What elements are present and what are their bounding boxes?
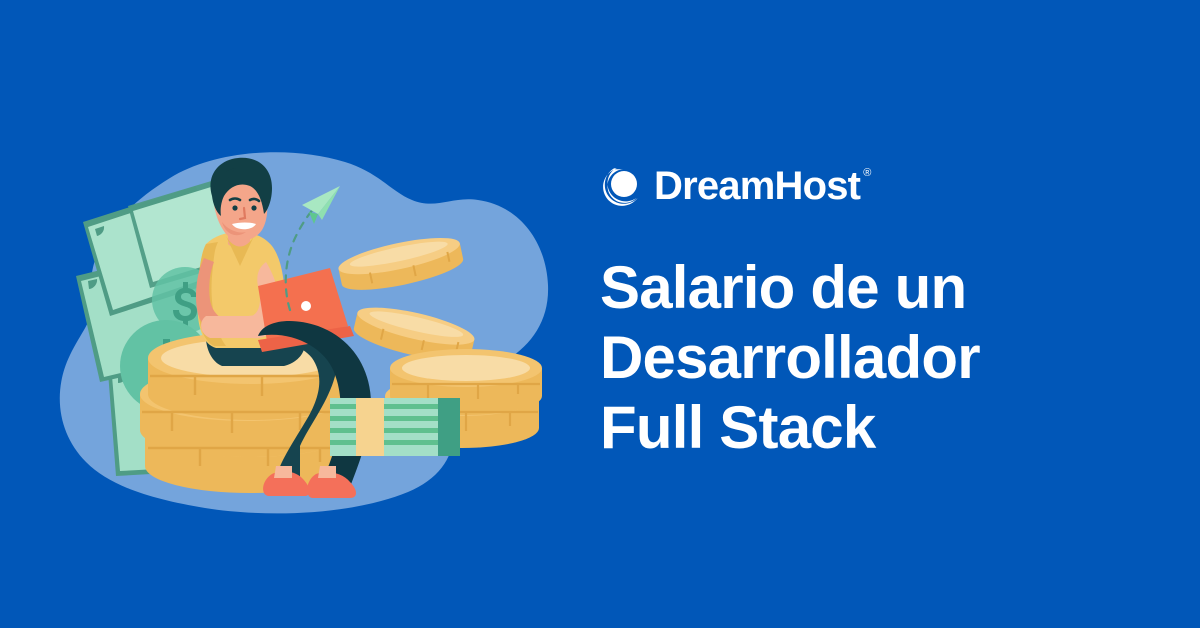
content-column: DreamHost ® Salario de un Desarrollador … [598, 0, 1200, 628]
registered-trademark-symbol: ® [863, 166, 871, 180]
ankle-back [274, 466, 292, 478]
eye-left [232, 205, 237, 210]
social-card: DreamHost ® Salario de un Desarrollador … [0, 0, 1200, 628]
page-title: Salario de un Desarrollador Full Stack [600, 253, 1070, 464]
eye-right [251, 205, 256, 210]
brand-name: DreamHost [654, 165, 860, 207]
cash-band [356, 398, 384, 456]
brand-lockup: DreamHost ® [600, 165, 1200, 209]
ankle-front [318, 466, 336, 478]
dreamhost-crescent-moon-icon [600, 165, 642, 207]
cash-bundle-end [438, 398, 460, 456]
laptop-logo-dot [301, 301, 311, 311]
hero-illustration [0, 0, 600, 628]
cash-bundle [330, 398, 460, 456]
